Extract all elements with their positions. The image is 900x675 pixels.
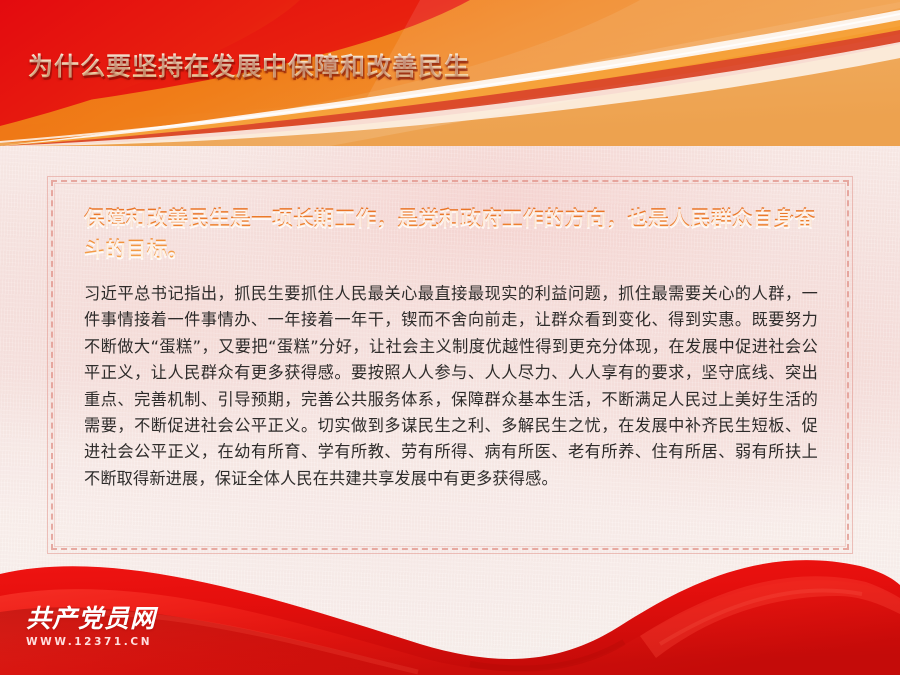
content-panel: 保障和改善民生是一项长期工作，是党和政府工作的方向，也是人民群众自身奋斗的目标。… [47,176,853,554]
content-lead-paragraph: 保障和改善民生是一项长期工作，是党和政府工作的方向，也是人民群众自身奋斗的目标。 [84,203,818,265]
site-logo-url: WWW.12371.CN [26,637,156,648]
content-body-paragraph: 习近平总书记指出，抓民生要抓住人民最关心最直接最现实的利益问题，抓住最需要关心的… [84,281,818,492]
header-banner: 为什么要坚持在发展中保障和改善民生 为什么要坚持在发展中保障和改善民生 [0,0,900,146]
footer-ribbon: 共产党员网 WWW.12371.CN [0,540,900,675]
page-title-text: 为什么要坚持在发展中保障和改善民生 [28,47,470,83]
site-logo-name: 共产党员网 [26,606,156,631]
poster-canvas: 为什么要坚持在发展中保障和改善民生 为什么要坚持在发展中保障和改善民生 保障和改… [0,0,900,675]
site-logo[interactable]: 共产党员网 WWW.12371.CN [26,606,156,648]
page-title: 为什么要坚持在发展中保障和改善民生 为什么要坚持在发展中保障和改善民生 [28,47,470,83]
